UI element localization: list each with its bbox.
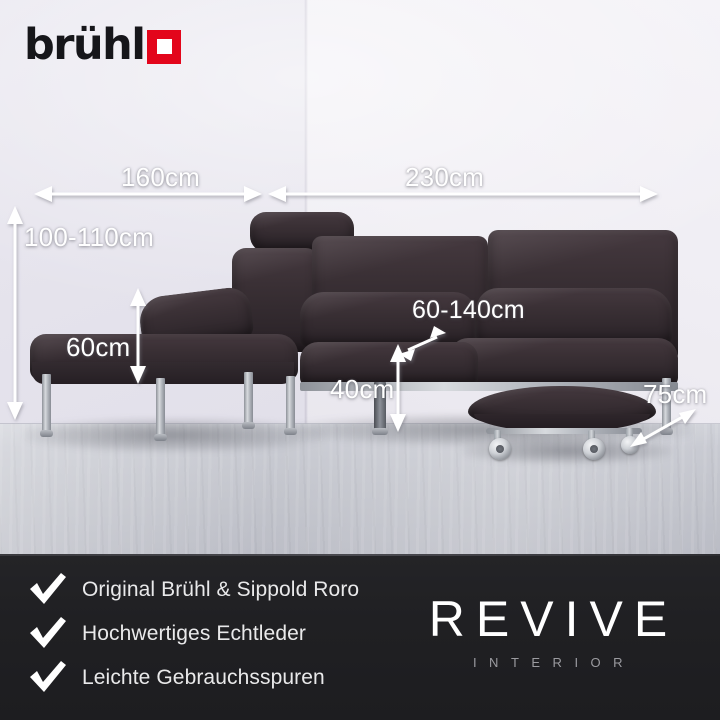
arrow-60cm: [130, 288, 146, 384]
arrow-60-140cm: [399, 326, 446, 361]
check-icon: [28, 617, 68, 651]
dimension-label-230cm: 230cm: [405, 162, 484, 193]
arrow-100-110cm: [7, 206, 23, 420]
revive-subtitle: INTERIOR: [398, 655, 698, 670]
check-icon: [28, 661, 68, 695]
dimension-arrows-svg: [0, 0, 720, 554]
dimension-label-40cm: 40cm: [330, 374, 394, 405]
list-item: Original Brühl & Sippold Roro: [28, 568, 458, 612]
revive-wordmark: REVIVE: [398, 594, 698, 644]
product-photo: 160cm 230cm 100-110cm 60cm 60-140cm 40cm…: [0, 0, 720, 554]
feature-text: Leichte Gebrauchsspuren: [82, 666, 325, 690]
logo-square-icon: [147, 30, 181, 64]
revive-interior-watermark: REVIVE INTERIOR: [398, 594, 698, 670]
list-item: Hochwertiges Echtleder: [28, 612, 458, 656]
logo-square-inner: [157, 39, 172, 54]
list-item: Leichte Gebrauchsspuren: [28, 656, 458, 700]
dimension-label-160cm: 160cm: [121, 162, 200, 193]
dimension-label-60-140cm: 60-140cm: [412, 296, 525, 325]
dimension-label-60cm: 60cm: [66, 332, 130, 363]
feature-text: Original Brühl & Sippold Roro: [82, 578, 359, 602]
dimension-label-100-110cm: 100-110cm: [24, 222, 154, 253]
feature-text: Hochwertiges Echtleder: [82, 622, 306, 646]
feature-bullet-list: Original Brühl & Sippold Roro Hochwertig…: [28, 568, 458, 700]
logo-wordmark: brühl: [24, 24, 144, 67]
arrow-75cm: [630, 409, 696, 447]
dimension-annotation-layer: 160cm 230cm 100-110cm 60cm 60-140cm 40cm…: [0, 0, 720, 554]
feature-banner: Original Brühl & Sippold Roro Hochwertig…: [0, 554, 720, 720]
banner-top-edge: [0, 554, 720, 556]
bruehl-logo: brühl: [24, 24, 181, 67]
check-icon: [28, 573, 68, 607]
product-image-card: 160cm 230cm 100-110cm 60cm 60-140cm 40cm…: [0, 0, 720, 720]
dimension-label-75cm: 75cm: [643, 379, 707, 410]
